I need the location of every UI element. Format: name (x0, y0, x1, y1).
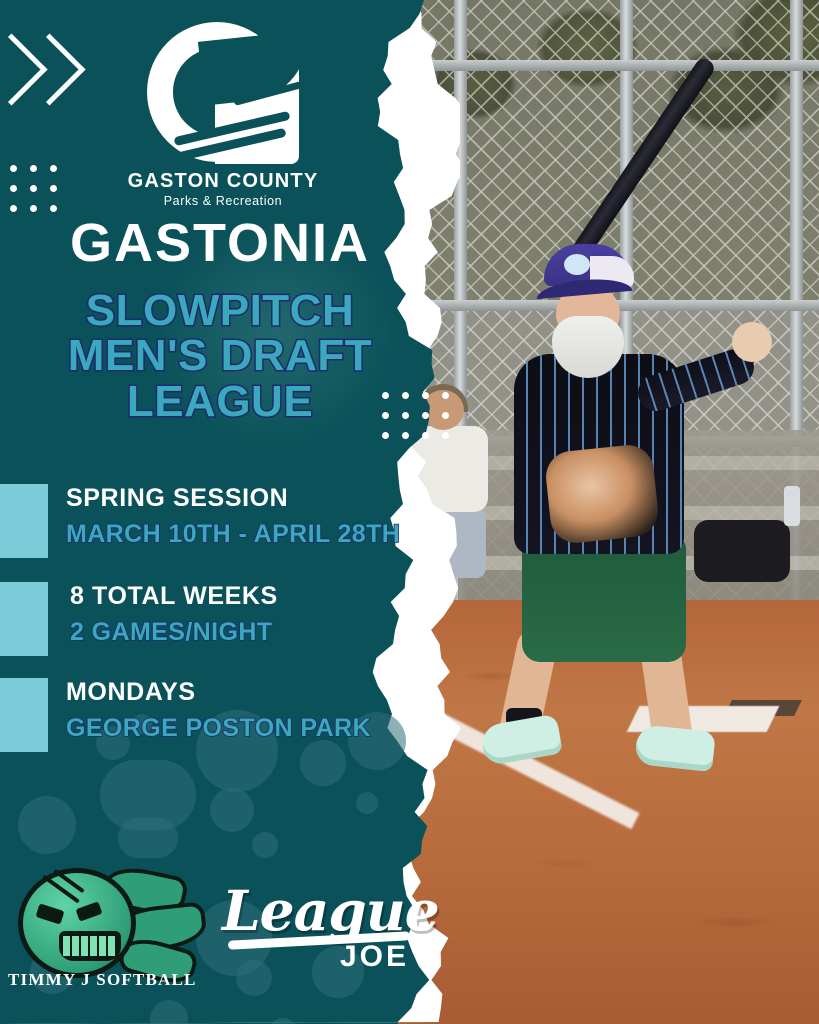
green-shorts (522, 538, 686, 662)
timmy-j-softball-logo: TIMMY J SOFTBALL (8, 862, 198, 1002)
trademark-mark: ™ (408, 876, 419, 888)
org-subtitle: Parks & Recreation (118, 194, 328, 208)
batter-hands (732, 322, 772, 362)
league-line-2: MEN'S DRAFT (0, 333, 440, 378)
softball-photo (398, 0, 819, 1024)
league-line-3: LEAGUE (0, 379, 440, 424)
jersey-graphic (543, 443, 660, 546)
batter-shoe (479, 714, 563, 767)
cap-logo-icon (564, 254, 590, 275)
info-sub: GEORGE POSTON PARK (66, 714, 371, 743)
info-sub: 2 GAMES/NIGHT (70, 618, 278, 647)
league-joe-text: JOE (340, 940, 409, 974)
league-title: SLOWPITCH MEN'S DRAFT LEAGUE (0, 288, 440, 424)
info-row-weeks: 8 TOTAL WEEKS 2 GAMES/NIGHT (0, 582, 278, 656)
angry-softball-mascot-icon (18, 868, 136, 978)
info-row-session: SPRING SESSION MARCH 10TH - APRIL 28TH (0, 484, 400, 558)
gaston-county-mark-icon (137, 18, 309, 168)
info-row-day-location: MONDAYS GEORGE POSTON PARK (0, 678, 371, 752)
info-heading: SPRING SESSION (66, 484, 400, 513)
accent-bar (0, 484, 48, 558)
water-bottle (784, 486, 800, 526)
batter-shoe (634, 724, 716, 772)
flyer-canvas: GASTON COUNTY Parks & Recreation GASTONI… (0, 0, 819, 1024)
fence-rail (398, 60, 819, 71)
page-title: GASTONIA (0, 212, 440, 274)
dot-grid-decoration (10, 165, 57, 212)
info-heading: 8 TOTAL WEEKS (70, 582, 278, 611)
org-name: GASTON COUNTY (118, 170, 328, 193)
info-heading: MONDAYS (66, 678, 371, 707)
league-line-1: SLOWPITCH (0, 288, 440, 333)
batter-figure (440, 250, 770, 770)
accent-bar (0, 678, 48, 752)
league-joe-logo: League ™ JOE (222, 878, 422, 968)
timmy-j-softball-text: TIMMY J SOFTBALL (8, 970, 208, 990)
gaston-county-logo: GASTON COUNTY Parks & Recreation (118, 18, 328, 208)
info-sub: MARCH 10TH - APRIL 28TH (66, 520, 400, 549)
accent-bar (0, 582, 48, 656)
